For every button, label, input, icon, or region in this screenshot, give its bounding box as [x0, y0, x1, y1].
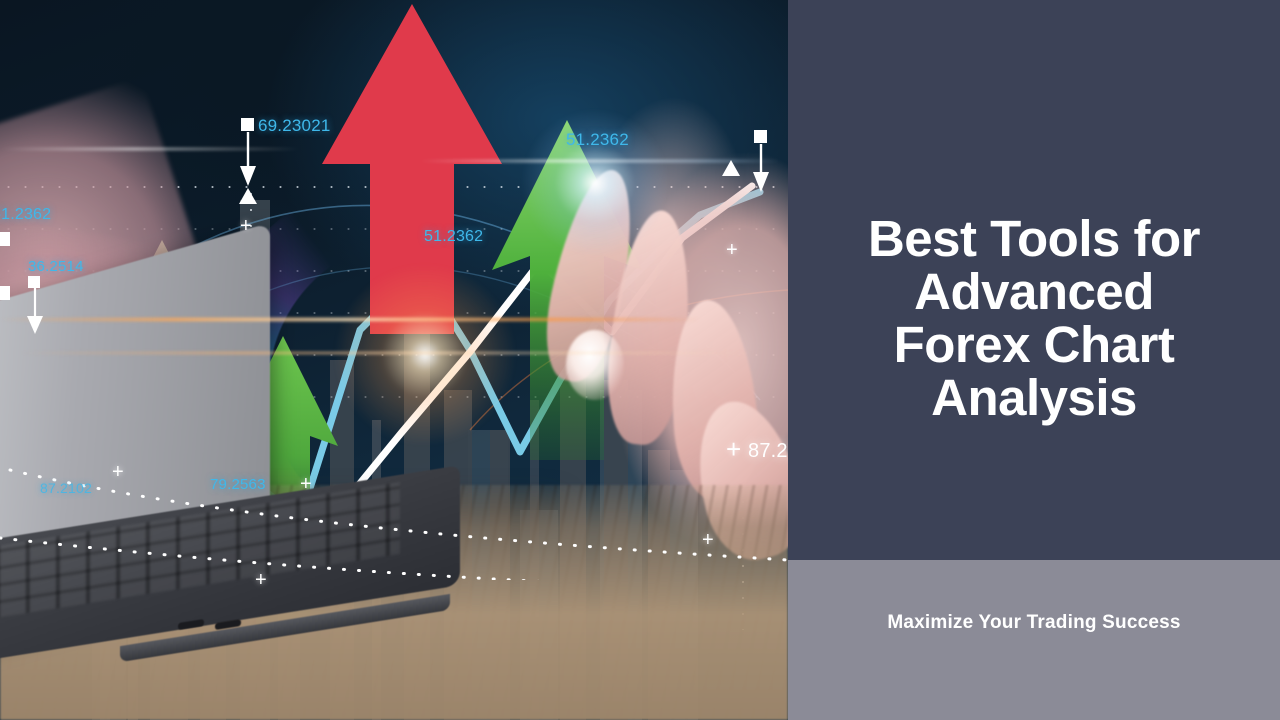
marker-square — [241, 118, 254, 131]
marker-square — [0, 232, 10, 246]
headline-line-3: Forex Chart — [806, 318, 1262, 371]
crosshair-plus-icon: + — [726, 436, 741, 462]
light-streak-orange — [20, 352, 760, 354]
headline-line-4: Analysis — [806, 371, 1262, 424]
value-label-36: 36.2514 — [28, 258, 84, 275]
light-streak-orange — [0, 318, 700, 321]
fingertip — [566, 330, 624, 400]
marker-triangle-up — [722, 160, 740, 176]
marker-arrow-down — [753, 144, 769, 192]
value-label-87-right: 87.21 — [748, 440, 788, 463]
value-label-87: 87.2102 — [40, 480, 92, 496]
crosshair-plus-icon: + — [112, 462, 124, 482]
marker-square — [28, 276, 40, 288]
marker-arrow-down — [27, 288, 43, 334]
headline-line-2: Advanced — [806, 265, 1262, 318]
page-title: Best Tools for Advanced Forex Chart Anal… — [788, 212, 1280, 424]
arrow-up-red — [322, 4, 502, 334]
crosshair-plus-icon: + — [300, 474, 312, 494]
headline-line-1: Best Tools for — [806, 212, 1262, 265]
value-label-51-left: 51.2362 — [0, 206, 51, 224]
text-panel: Best Tools for Advanced Forex Chart Anal… — [788, 0, 1280, 720]
value-label-51-center: 51.2362 — [424, 228, 483, 246]
crosshair-plus-icon: + — [240, 216, 252, 236]
crosshair-plus-icon: + — [702, 530, 714, 550]
forex-banner: + + + + + + + — [0, 0, 1280, 720]
value-label-51-top: 51.2362 — [566, 130, 629, 150]
crosshair-plus-icon: + — [726, 240, 738, 260]
marker-square — [0, 286, 10, 300]
subtitle: Maximize Your Trading Success — [788, 612, 1280, 634]
value-label-69: 69.23021 — [258, 116, 331, 136]
marker-square — [754, 130, 767, 143]
marker-arrow-down — [240, 132, 256, 186]
marker-triangle-up — [239, 188, 257, 204]
value-label-79: 79.2563 — [210, 476, 266, 493]
panel-bottom-background — [788, 560, 1280, 720]
crosshair-plus-icon: + — [255, 570, 267, 590]
chart-photo-background: + + + + + + + — [0, 0, 788, 720]
